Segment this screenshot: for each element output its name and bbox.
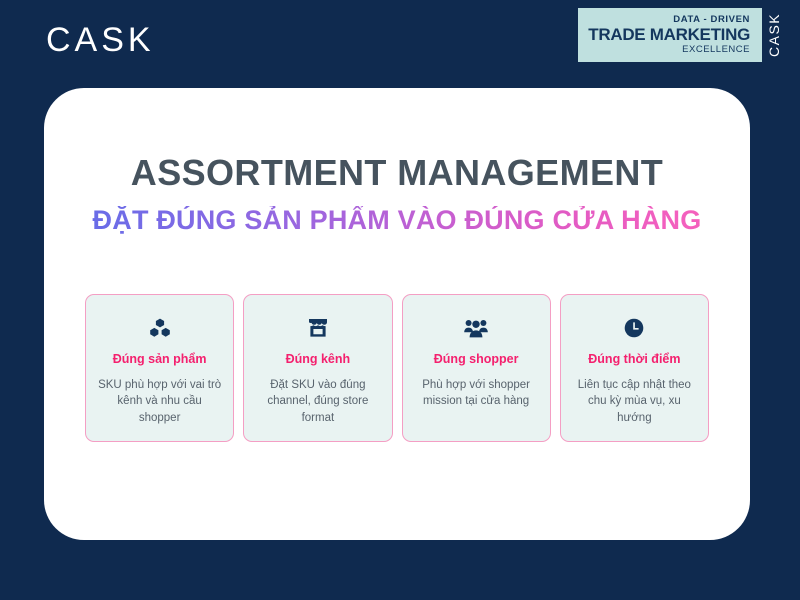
- pillar-card-title: Đúng thời điểm: [588, 352, 680, 367]
- store-icon: [308, 317, 328, 339]
- badge-side-label: CASK: [762, 8, 788, 62]
- pillar-card-title: Đúng kênh: [286, 352, 351, 367]
- pillar-card-body: Đặt SKU vào đúng channel, đúng store for…: [256, 377, 379, 426]
- trade-marketing-badge: DATA - DRIVEN TRADE MARKETING EXCELLENCE…: [578, 8, 788, 62]
- pillar-card-channel: Đúng kênh Đặt SKU vào đúng channel, đúng…: [243, 294, 392, 442]
- badge-line-excellence: EXCELLENCE: [682, 44, 750, 55]
- pillar-card-body: SKU phù hợp với vai trò kênh và nhu cầu …: [98, 377, 221, 426]
- pillar-card-body: Liên tục cập nhật theo chu kỳ mùa vụ, xu…: [573, 377, 696, 426]
- pillar-card-product: Đúng sản phẩm SKU phù hợp với vai trò kê…: [85, 294, 234, 442]
- page-title: ASSORTMENT MANAGEMENT: [44, 154, 750, 192]
- cubes-icon: [149, 317, 171, 339]
- pillar-card-timing: Đúng thời điểm Liên tục cập nhật theo ch…: [560, 294, 709, 442]
- badge-box: DATA - DRIVEN TRADE MARKETING EXCELLENCE: [578, 8, 762, 62]
- content-panel: ASSORTMENT MANAGEMENT ĐẶT ĐÚNG SẢN PHẨM …: [44, 88, 750, 540]
- pillar-card-shopper: Đúng shopper Phù hợp với shopper mission…: [402, 294, 551, 442]
- pillar-card-body: Phù hợp với shopper mission tại cửa hàng: [415, 377, 538, 410]
- users-group-icon: [464, 317, 488, 339]
- page-subtitle: ĐẶT ĐÚNG SẢN PHẨM VÀO ĐÚNG CỬA HÀNG: [44, 206, 750, 236]
- badge-line-trade-marketing: TRADE MARKETING: [588, 26, 750, 44]
- cask-logo: CASK: [46, 23, 155, 57]
- pillar-card-title: Đúng sản phẩm: [113, 352, 207, 367]
- pillar-card-title: Đúng shopper: [434, 352, 519, 367]
- clock-icon: [624, 317, 644, 339]
- pillar-card-list: Đúng sản phẩm SKU phù hợp với vai trò kê…: [85, 294, 709, 442]
